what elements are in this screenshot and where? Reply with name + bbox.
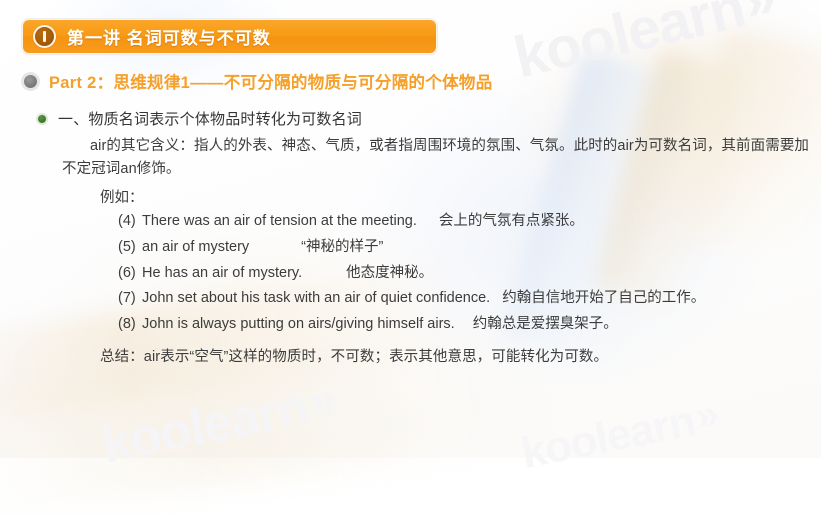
- roman-numeral-one-icon: [33, 25, 56, 48]
- example-english: John is always putting on airs/giving hi…: [142, 312, 455, 338]
- example-number: (8): [118, 312, 142, 338]
- watermark-text: koolearn: [517, 397, 699, 479]
- watermark-koolearn-top: koolearn»: [508, 0, 777, 91]
- watermark-koolearn-bottom-left: koolearn»: [96, 370, 336, 475]
- example-english: He has an air of mystery.: [142, 261, 302, 287]
- watermark-chevron-icon: »: [303, 371, 335, 429]
- example-chinese: “神秘的样子”: [301, 235, 383, 261]
- green-bullet-icon: [38, 115, 46, 123]
- example-chinese: 约翰自信地开始了自己的工作。: [502, 286, 705, 312]
- example-item: (8) John is always putting on airs/givin…: [118, 312, 812, 338]
- explanation-paragraph: air的其它含义：指人的外表、神态、气质，或者指周围环境的氛围、气氛。此时的ai…: [62, 135, 810, 182]
- example-chinese: 约翰总是爱摆臭架子。: [473, 312, 618, 338]
- watermark-text: koolearn: [508, 0, 750, 90]
- part-heading-label: Part 2：思维规律1——不可分隔的物质与可分隔的个体物品: [49, 69, 493, 93]
- example-english: John set about his task with an air of q…: [142, 286, 490, 312]
- lesson-title-bar: 第一讲 名词可数与不可数: [22, 19, 437, 54]
- example-item: (4) There was an air of tension at the m…: [118, 209, 812, 235]
- part-heading: Part 2：思维规律1——不可分隔的物质与可分隔的个体物品: [22, 69, 493, 93]
- watermark-chevron-icon: »: [691, 390, 717, 439]
- watermark-text: koolearn: [97, 378, 313, 475]
- example-item: (5) an air of mystery “神秘的样子”: [118, 235, 812, 261]
- watermark-chevron-icon: »: [738, 0, 776, 33]
- example-number: (6): [118, 261, 142, 287]
- page-title: 第一讲 名词可数与不可数: [67, 24, 271, 49]
- examples-label: 例如：: [100, 186, 812, 207]
- example-number: (5): [118, 235, 142, 261]
- slide-canvas: koolearn» koolearn» koolearn» 第一讲 名词可数与不…: [0, 0, 821, 458]
- example-chinese: 他态度神秘。: [346, 261, 433, 287]
- example-item: (7) John set about his task with an air …: [118, 286, 812, 312]
- example-chinese: 会上的气氛有点紧张。: [439, 209, 584, 235]
- examples-list: (4) There was an air of tension at the m…: [118, 209, 812, 338]
- example-item: (6) He has an air of mystery. 他态度神秘。: [118, 261, 812, 287]
- example-english: There was an air of tension at the meeti…: [142, 209, 417, 235]
- example-english: an air of mystery: [142, 235, 249, 261]
- section-heading-label: 一、物质名词表示个体物品时转化为可数名词: [58, 108, 362, 129]
- gray-bullet-icon: [24, 75, 37, 88]
- example-number: (7): [118, 286, 142, 312]
- slide-body: 一、物质名词表示个体物品时转化为可数名词 air的其它含义：指人的外表、神态、气…: [22, 108, 812, 366]
- watermark-koolearn-bottom-right: koolearn»: [517, 390, 718, 479]
- section-heading: 一、物质名词表示个体物品时转化为可数名词: [22, 108, 812, 129]
- example-number: (4): [118, 209, 142, 235]
- summary-text: 总结：air表示“空气”这样的物质时，不可数；表示其他意思，可能转化为可数。: [100, 345, 812, 366]
